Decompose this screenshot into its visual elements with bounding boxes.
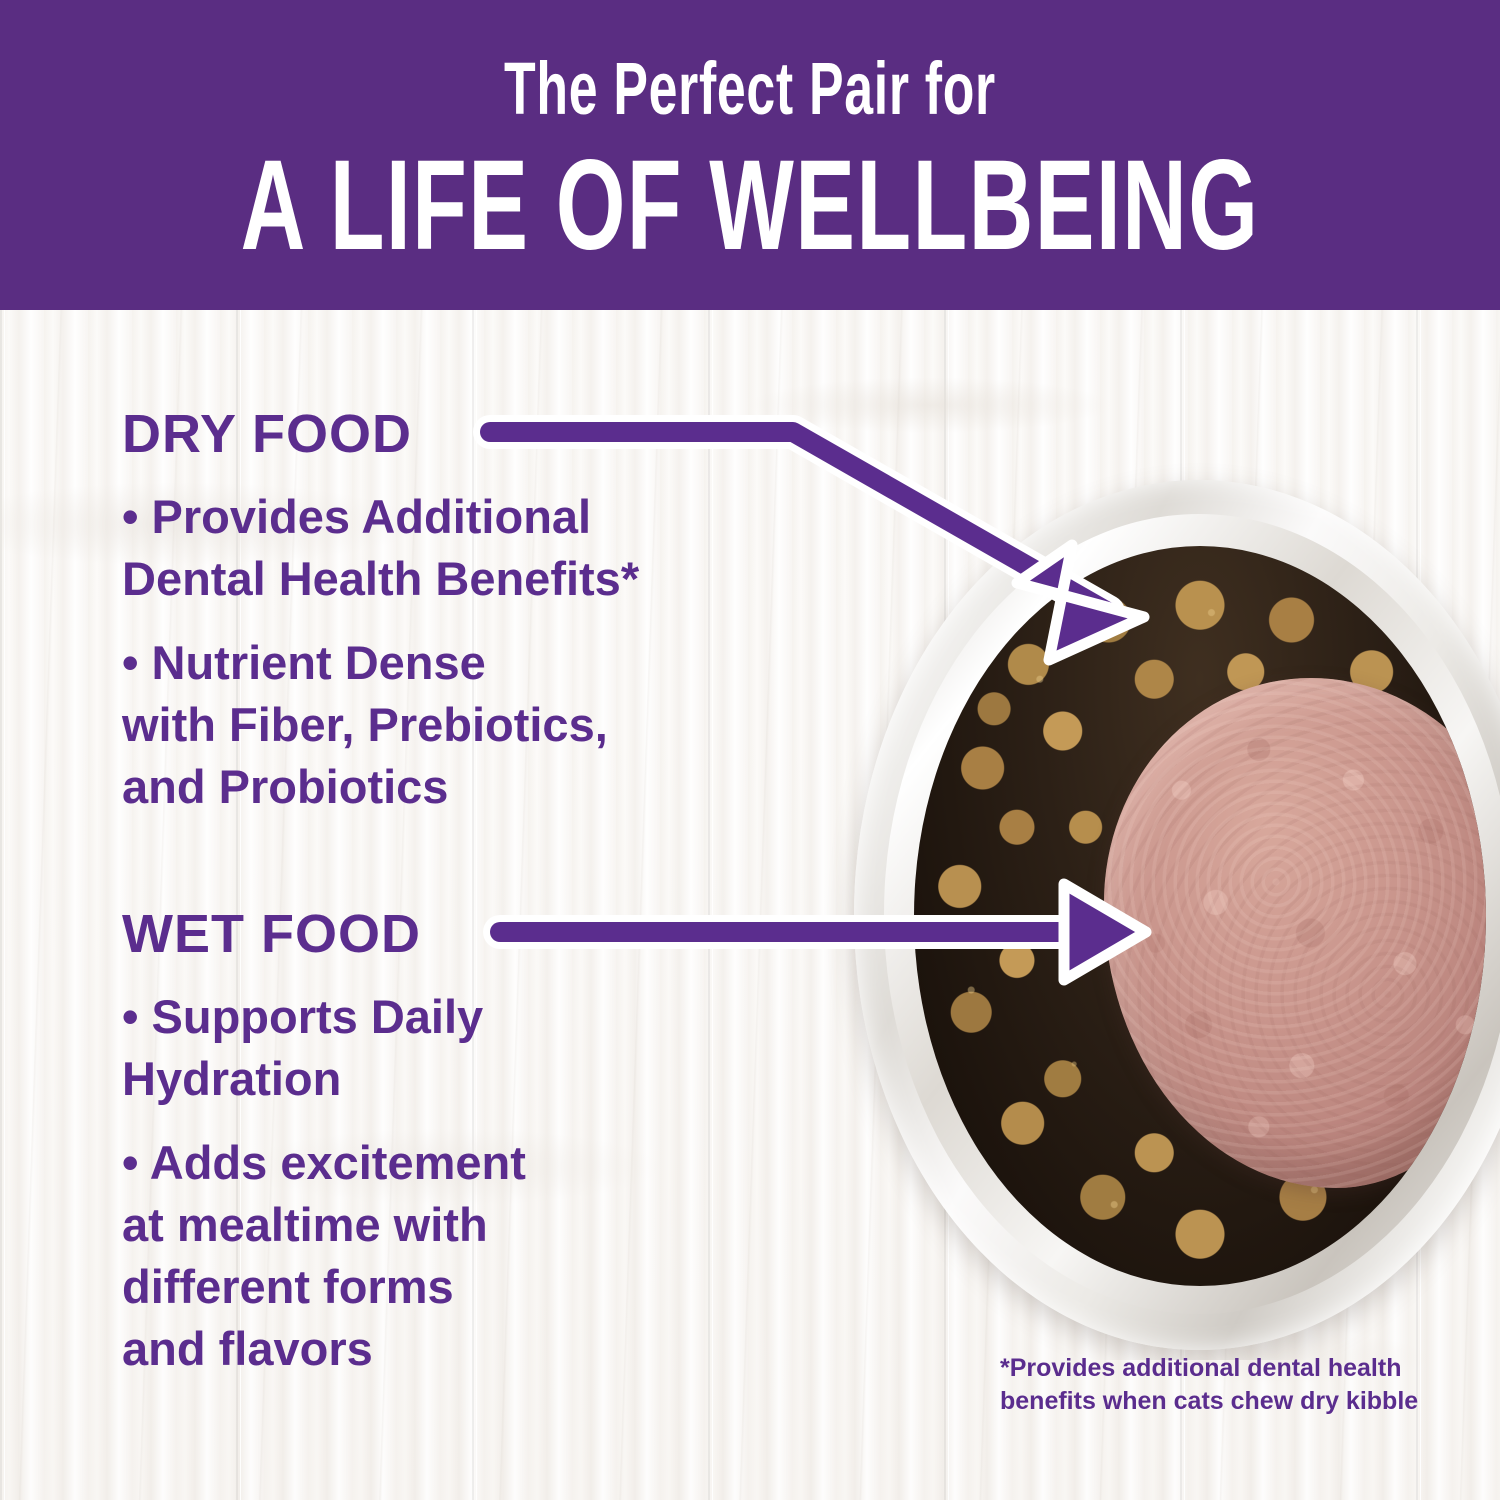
bullet-wet-1-line-1: • Supports Daily <box>122 990 483 1043</box>
infographic-root: The Perfect Pair for A LIFE OF WELLBEING <box>0 0 1500 1500</box>
food-bowl-photo <box>818 430 1500 1360</box>
copy-column: DRY FOOD • Provides Additional Dental He… <box>0 0 840 1500</box>
bullet-wet-2-line-2: at mealtime with <box>122 1198 488 1251</box>
bullet-dry-1-line-2: Dental Health Benefits* <box>122 552 639 605</box>
bullet-wet-1: • Supports Daily Hydration <box>122 986 782 1110</box>
bowl-interior <box>914 546 1486 1286</box>
bullet-wet-1-line-2: Hydration <box>122 1052 341 1105</box>
bullet-dry-2-line-1: • Nutrient Dense <box>122 636 486 689</box>
bullet-wet-2: • Adds excitement at mealtime with diffe… <box>122 1132 782 1380</box>
bullet-dry-2-line-3: and Probiotics <box>122 760 448 813</box>
bullet-wet-2-line-3: different forms <box>122 1260 454 1313</box>
bullet-dry-2-line-2: with Fiber, Prebiotics, <box>122 698 608 751</box>
section-heading-dry-food: DRY FOOD <box>122 403 412 465</box>
bullet-wet-2-line-1: • Adds excitement <box>122 1136 526 1189</box>
footnote-text: *Provides additional dental health benef… <box>1000 1352 1430 1418</box>
bullet-wet-2-line-4: and flavors <box>122 1322 373 1375</box>
bullet-dry-2: • Nutrient Dense with Fiber, Prebiotics,… <box>122 632 782 818</box>
bullet-dry-1-line-1: • Provides Additional <box>122 490 591 543</box>
bullet-dry-1: • Provides Additional Dental Health Bene… <box>122 486 782 610</box>
section-heading-wet-food: WET FOOD <box>122 903 421 965</box>
